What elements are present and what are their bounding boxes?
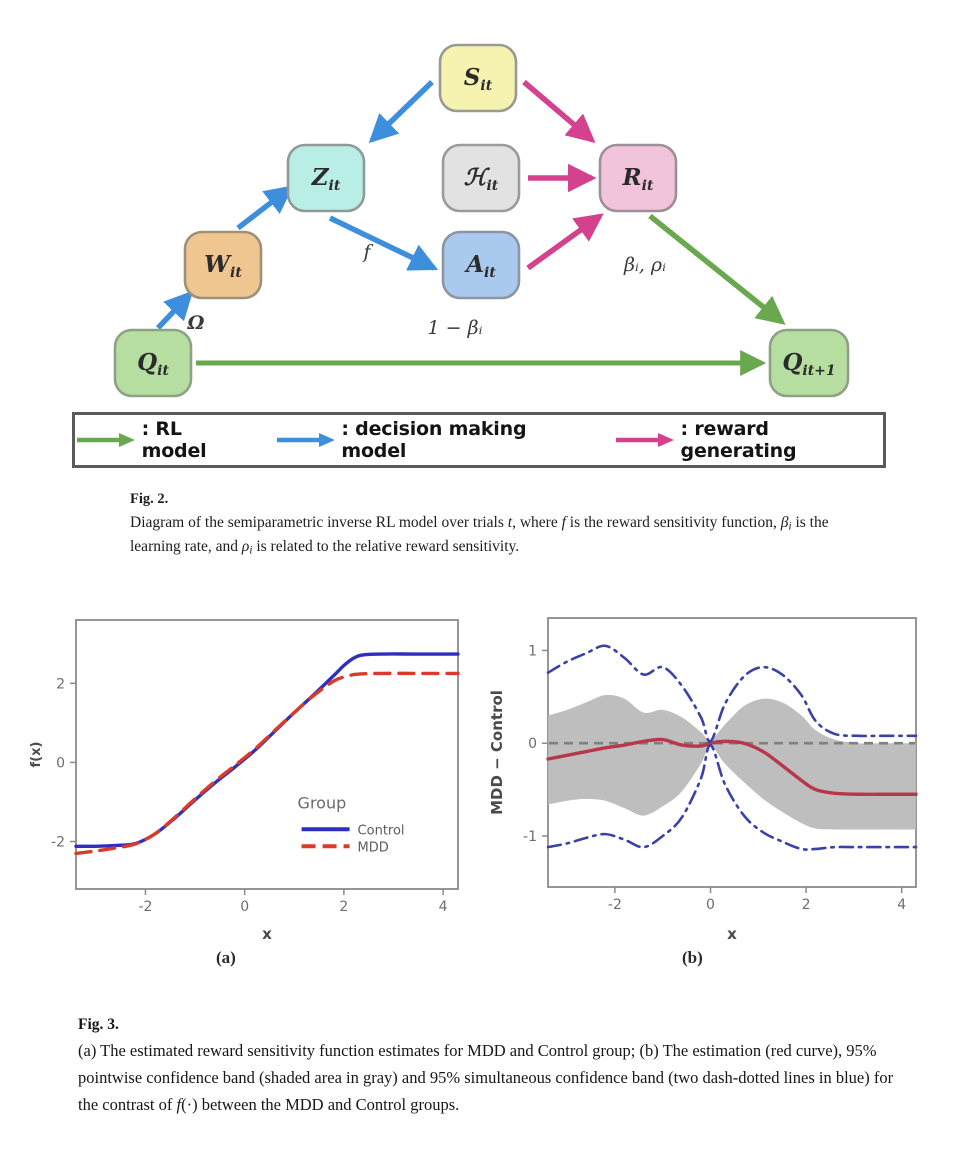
edge-w-to-z — [238, 188, 290, 228]
diagram-edge-label-f: f — [361, 241, 373, 263]
panel-b-caption: (b) — [682, 948, 703, 968]
y-tick-label: -1 — [523, 829, 537, 845]
edge-r-to-qnext — [650, 216, 782, 322]
caption-line-1: (a) The estimated reward sensitivity fun… — [78, 1041, 659, 1060]
x-tick-label: 2 — [802, 897, 811, 913]
x-axis-label: x — [727, 925, 737, 943]
legend-item-reward: : reward generating — [614, 418, 883, 462]
x-tick-label: 4 — [439, 899, 448, 915]
chart-panel-a: -202420-2xf(x)GroupControlMDD — [20, 600, 480, 950]
caption-text: Diagram of the semiparametric inverse RL… — [130, 514, 508, 531]
x-tick-label: -2 — [608, 897, 622, 913]
figure-3-caption: Fig. 3. (a) The estimated reward sensiti… — [78, 1012, 908, 1118]
caption-line-4: between the MDD and Control groups. — [202, 1095, 460, 1114]
figure-2-caption-title: Fig. 2. — [130, 488, 850, 510]
caption-text: , where — [512, 514, 562, 531]
diagram-edge-label-beta-rho: βᵢ, ρᵢ — [623, 254, 666, 276]
figure-2-diagram: SitZitℋitRitWitAitQitQit+1 Ωf1 − βᵢβᵢ, ρ… — [0, 0, 958, 400]
y-axis-label: MDD − Control — [488, 690, 506, 815]
legend-arrow-icon-rl — [75, 430, 135, 450]
x-tick-label: 2 — [339, 899, 348, 915]
legend-entry-mdd: MDD — [358, 840, 389, 855]
legend-row: : RL model: decision making model: rewar… — [75, 418, 883, 462]
plot-frame — [76, 620, 458, 889]
x-tick-label: 0 — [240, 899, 249, 915]
figure-2-legend-box: : RL model: decision making model: rewar… — [72, 412, 886, 468]
x-tick-label: 4 — [897, 897, 906, 913]
legend-label-reward: : reward generating — [681, 418, 883, 462]
x-axis-label: x — [262, 925, 272, 943]
figure-3-caption-body: (a) The estimated reward sensitivity fun… — [78, 1038, 908, 1118]
legend-arrow-icon-decision — [275, 430, 335, 450]
paper-figure-page: SitZitℋitRitWitAitQitQit+1 Ωf1 − βᵢβᵢ, ρ… — [0, 0, 958, 1174]
legend-entry-control: Control — [358, 823, 405, 838]
y-tick-label: 0 — [528, 736, 537, 752]
diagram-nodes: SitZitℋitRitWitAitQitQit+1 — [115, 45, 848, 396]
caption-line-3b: (·) — [181, 1095, 197, 1114]
y-tick-label: -2 — [51, 835, 65, 851]
diagram-edge-label-one-minus-beta: 1 − βᵢ — [428, 317, 483, 339]
legend-label-rl: : RL model — [142, 418, 249, 462]
edge-s-to-z — [372, 82, 432, 140]
y-axis-label: f(x) — [29, 742, 44, 768]
caption-text: is the reward — [566, 514, 650, 531]
x-tick-label: 0 — [706, 897, 715, 913]
figure-3-caption-title: Fig. 3. — [78, 1012, 908, 1037]
figure-3-charts: -202420-2xf(x)GroupControlMDD -202410-1x… — [0, 600, 958, 995]
edge-z-to-a — [330, 218, 434, 268]
edge-a-to-r — [528, 216, 600, 268]
edge-q-to-w — [158, 294, 190, 328]
x-tick-label: -2 — [138, 899, 152, 915]
edge-s-to-r — [524, 82, 592, 140]
legend-label-decision: : decision making model — [341, 418, 588, 462]
legend-title: Group — [298, 793, 347, 812]
chart-panel-b: -202410-1xMDD − Control — [478, 600, 938, 950]
figure-2-caption-body: Diagram of the semiparametric inverse RL… — [130, 511, 850, 560]
panel-a-caption: (a) — [216, 948, 236, 968]
y-tick-label: 2 — [56, 676, 65, 692]
y-tick-label: 0 — [56, 755, 65, 771]
legend-item-rl: : RL model — [75, 418, 249, 462]
figure-2-caption: Fig. 2. Diagram of the semiparametric in… — [130, 488, 850, 560]
legend-item-decision: : decision making model — [275, 418, 588, 462]
caption-text: is related to the relative reward sensit… — [252, 538, 519, 555]
legend-arrow-icon-reward — [614, 430, 674, 450]
caption-text: sensitivity function, — [654, 514, 781, 531]
y-tick-label: 1 — [528, 643, 537, 659]
diagram-edge-label-omega: Ω — [187, 312, 205, 334]
